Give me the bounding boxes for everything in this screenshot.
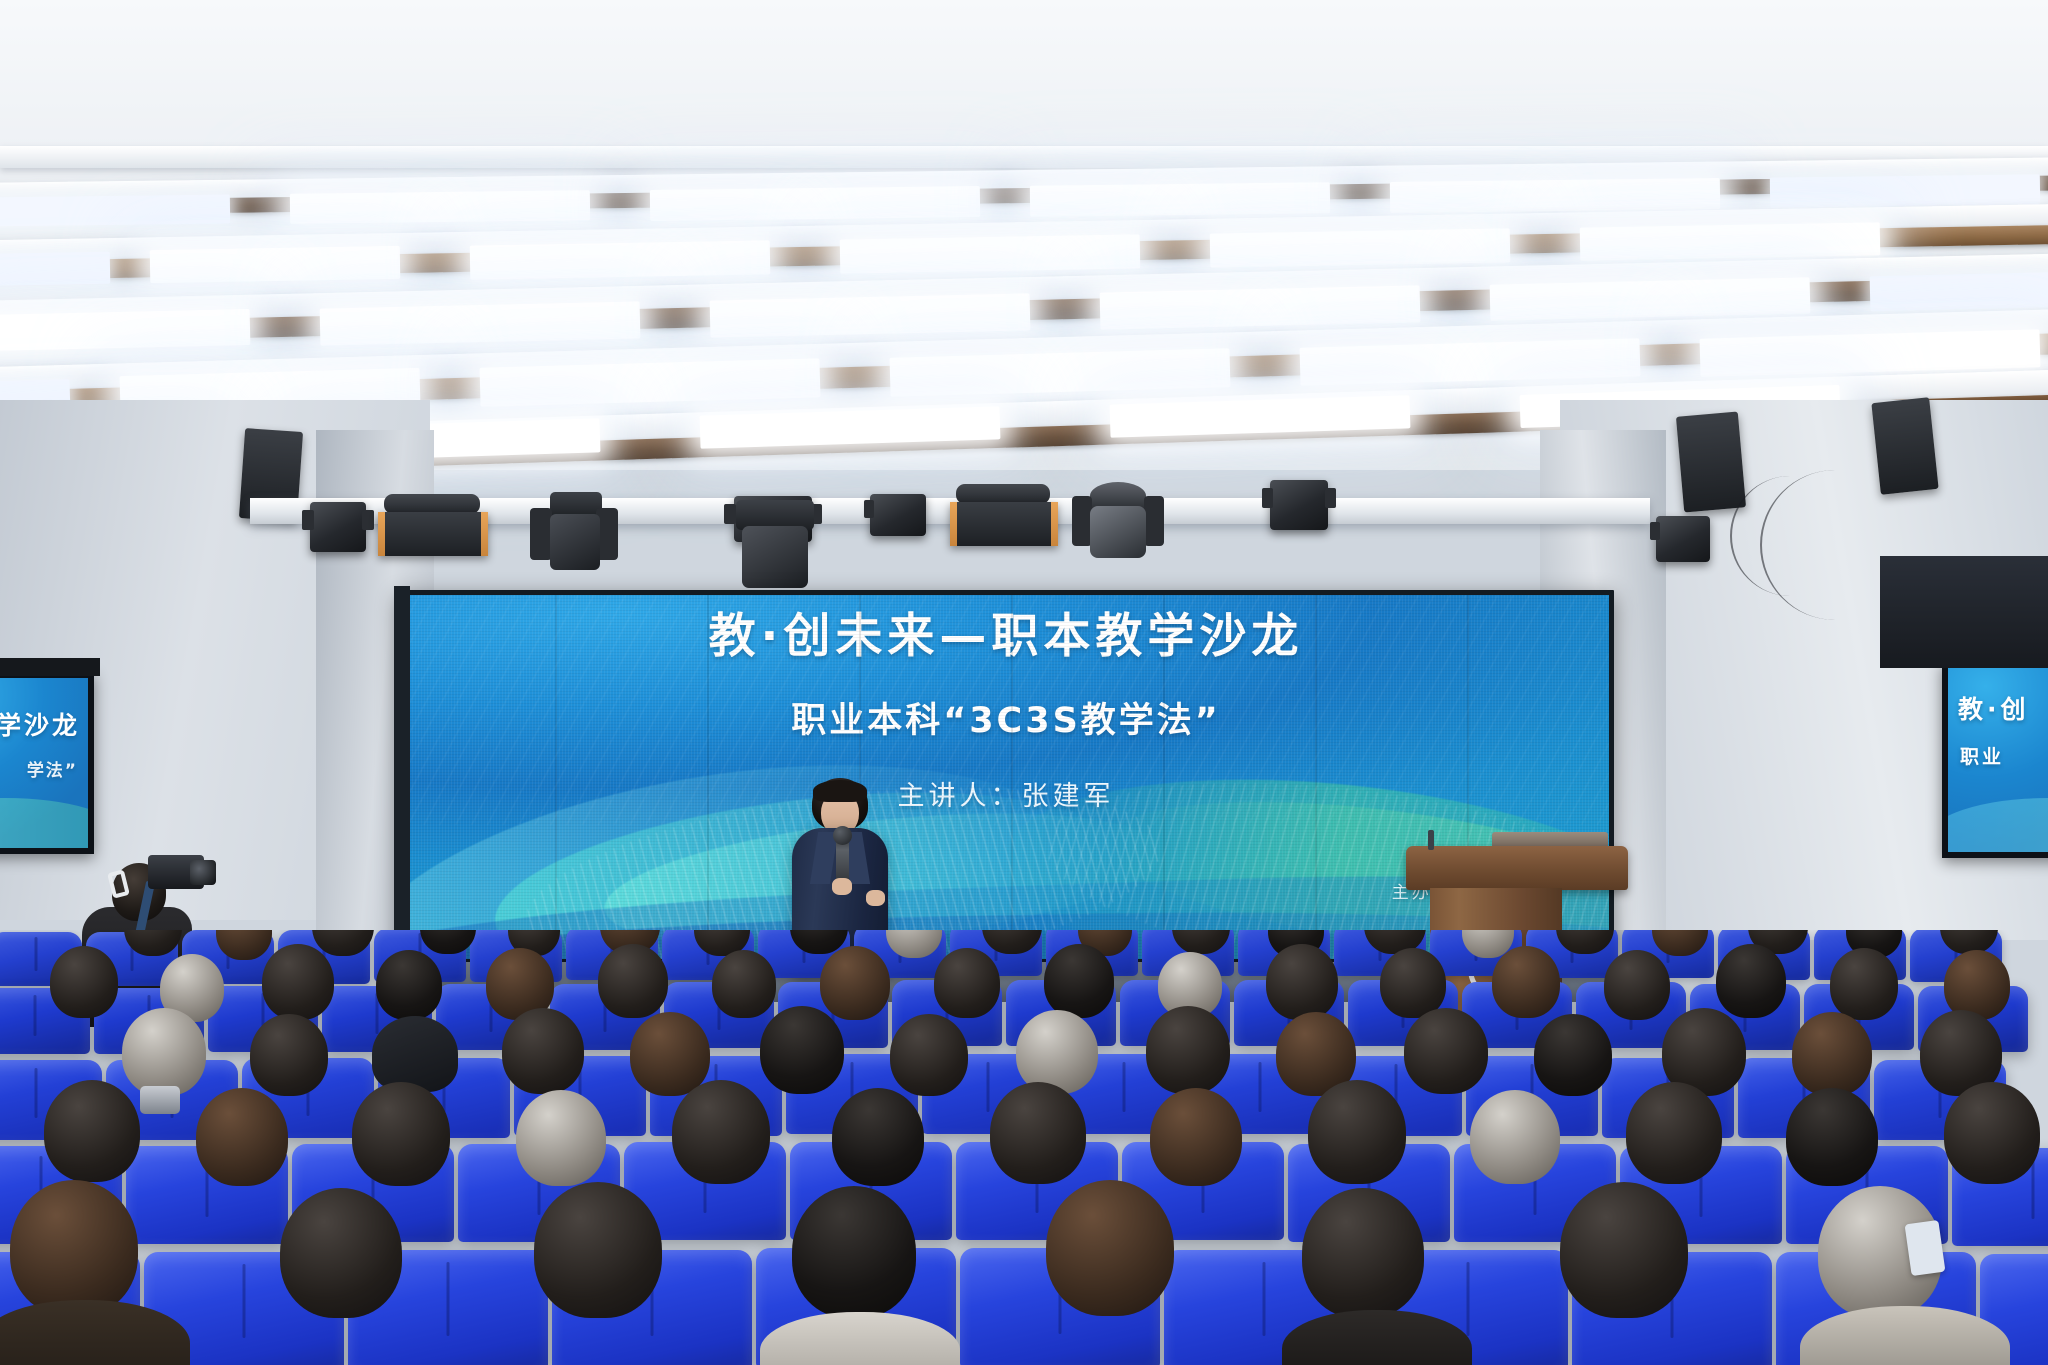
ceiling-light-panel: [290, 190, 590, 224]
audience-head: [672, 1080, 770, 1184]
side-monitor-left-waves: [0, 798, 88, 848]
audience-head-front: [1302, 1188, 1424, 1318]
stage-light-par: [864, 490, 932, 542]
audience-head: [196, 1088, 288, 1186]
side-monitor-right-waves: [1948, 798, 2048, 852]
audience-head-front: [280, 1188, 402, 1318]
audience-head: [1044, 944, 1114, 1018]
ceiling-light-panel: [320, 301, 641, 345]
ceiling-light-panel: [150, 246, 401, 283]
stage-light-par-wall: [1650, 512, 1716, 566]
audience-head: [1146, 1006, 1230, 1094]
camera-held-icon: [140, 1086, 180, 1114]
audience-head-front: [1560, 1182, 1688, 1318]
audience-head: [934, 948, 1000, 1018]
side-monitor-left: 学沙龙 学法”: [0, 672, 94, 854]
presenter-hand-left: [832, 878, 852, 895]
presenter-fringe: [813, 780, 867, 802]
audience-head: [122, 1008, 206, 1096]
microphone-head-icon: [833, 826, 852, 845]
audience-head: [712, 950, 776, 1018]
stage-light-moving-head: [528, 492, 620, 590]
audience-head: [262, 944, 334, 1020]
audience-head: [1470, 1090, 1560, 1184]
audience-head: [1016, 1010, 1098, 1094]
ceiling-light-panel: [710, 293, 1031, 337]
podium-top-surface: [1406, 846, 1628, 890]
ceiling-light-panel: [1390, 178, 1720, 213]
side-monitor-right-line2: 职业: [1960, 742, 2004, 769]
ceiling-light-panel: [470, 240, 771, 279]
camera-lens-icon: [190, 860, 216, 885]
audience-head: [1604, 950, 1670, 1020]
side-monitor-left-line2: 学法”: [27, 756, 78, 781]
ceiling-upper-flat: [0, 0, 2048, 150]
audience-seating: [0, 930, 2048, 1365]
stage-light-fresnel-right: [950, 484, 1058, 546]
led-bezel-left: [394, 586, 410, 968]
audience-head: [352, 1082, 450, 1186]
audience-head: [1830, 948, 1898, 1020]
stage-light-par: [302, 496, 374, 554]
audience-head: [516, 1090, 606, 1186]
stage-light-par-right: [1262, 476, 1336, 534]
led-title: 教·创未来—职本教学沙龙: [403, 613, 1609, 660]
podium-microphone: [1428, 830, 1434, 850]
audience-head: [598, 944, 668, 1018]
audience-head: [502, 1008, 584, 1094]
audience-head: [1150, 1088, 1242, 1186]
ceiling-light-panel: [1490, 277, 1811, 320]
presenter-hand-right: [866, 890, 885, 906]
ceiling-light-panel: [1030, 182, 1330, 217]
stage-light-fresnel: [378, 494, 488, 556]
wall-speaker-right-2: [1871, 397, 1938, 495]
photo-scene: 教·创未来—职本教学沙龙 职业本科“3C3S教学法” 主讲人：张建军 主办单位：…: [0, 0, 2048, 1365]
audience-head: [1626, 1082, 1722, 1184]
audience-head-with-cap: [372, 1016, 458, 1092]
audience-head: [890, 1014, 968, 1096]
audience-head: [1786, 1088, 1878, 1186]
ceiling-light-panel: [1770, 174, 2040, 207]
audience-head: [1534, 1014, 1612, 1096]
audience-head: [760, 1006, 844, 1094]
side-monitor-right-housing: [1880, 556, 2048, 668]
ceiling-light-panel: [1210, 228, 1511, 267]
audience-head: [1944, 1082, 2040, 1184]
ceiling-light-panel: [1100, 285, 1421, 329]
audience-head: [820, 946, 890, 1020]
side-monitor-left-housing: [0, 658, 100, 676]
audience-head-front: [534, 1182, 662, 1318]
audience-head: [990, 1082, 1086, 1184]
ceiling-light-panel: [840, 234, 1141, 273]
audience-head: [630, 1012, 710, 1096]
audience-head: [1266, 944, 1338, 1020]
wall-speaker-right: [1676, 411, 1746, 512]
audience-head: [44, 1080, 140, 1182]
audience-head: [1380, 948, 1446, 1018]
side-monitor-right-line1: 教·创: [1958, 690, 2030, 726]
audience-head-front: [1046, 1180, 1174, 1316]
audience-head: [1716, 944, 1786, 1018]
stage-light-moving-head-right: [1070, 482, 1166, 578]
audience-head: [1308, 1080, 1406, 1184]
side-monitor-right: 教·创 职业: [1942, 662, 2048, 858]
audience-head: [376, 950, 442, 1020]
audience-head: [50, 946, 118, 1018]
audience-head-front: [792, 1186, 916, 1318]
audience-head: [250, 1014, 328, 1096]
led-speaker-label: 主讲人：张建军: [403, 774, 1609, 813]
audience-head: [1492, 946, 1560, 1018]
audience-head: [1404, 1008, 1488, 1094]
phone-screen-icon: [1905, 1220, 1946, 1276]
ceiling-light-panel: [1580, 222, 1881, 260]
ceiling-light-panel: [0, 194, 230, 226]
led-subtitle: 职业本科“3C3S教学法”: [403, 692, 1609, 743]
ceiling-light-panel: [1870, 272, 2048, 312]
audience-head: [1792, 1012, 1872, 1096]
audience-head: [832, 1088, 924, 1186]
side-monitor-left-line1: 学沙龙: [0, 706, 80, 742]
ceiling-light-panel: [650, 186, 980, 221]
audience-head-front: [10, 1180, 138, 1316]
ceiling-light-panel: [0, 309, 250, 351]
ceiling-light-panel: [0, 252, 110, 287]
led-text-block: 教·创未来—职本教学沙龙 职业本科“3C3S教学法” 主讲人：张建军: [403, 613, 1609, 813]
